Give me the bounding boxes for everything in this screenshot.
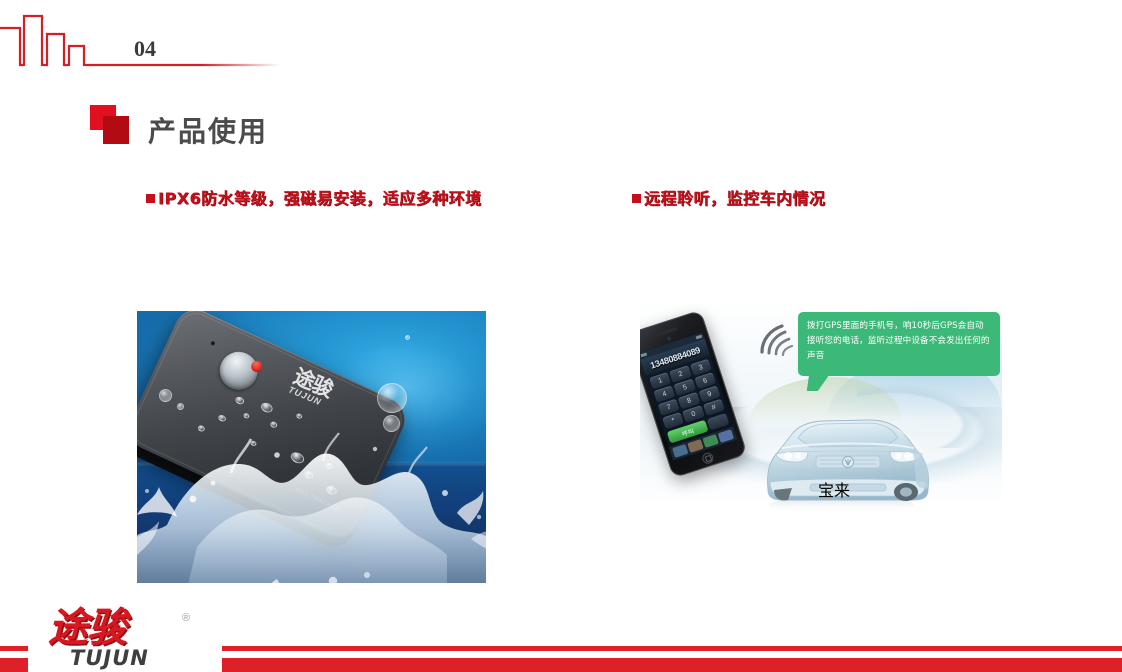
dock-safari-icon[interactable]	[718, 429, 734, 443]
feature-heading-right-text: 远程聆听，监控车内情况	[644, 189, 826, 208]
square-bullet-icon	[632, 194, 641, 203]
air-bubble-icon	[377, 383, 407, 413]
water-splash	[137, 429, 486, 583]
callout-tail	[807, 375, 829, 391]
feature-heading-left-text: IPX6防水等级，强磁易安装，适应多种环境	[158, 189, 482, 208]
dock-messages-icon[interactable]	[702, 434, 718, 448]
company-logo: 途骏 ® TUJUN	[40, 606, 215, 668]
air-bubble-icon	[405, 335, 410, 340]
page-number: 04	[134, 38, 156, 60]
air-bubble-icon	[177, 403, 184, 410]
callout-text: 拨打GPS里面的手机号，响10秒后GPS会自动接听您的电话，监听过程中设备不会发…	[807, 319, 992, 364]
dock-mail-icon[interactable]	[687, 439, 703, 453]
slide-canvas: 04 产品使用 IPX6防水等级，强磁易安装，适应多种环境 远程聆听，监控车内情…	[0, 0, 1122, 672]
feature-heading-right: 远程聆听，监控车内情况	[632, 186, 1052, 212]
product-image-waterproof: 途骏 TUJUN GPS TRACKER	[137, 311, 486, 583]
logo-latin-name: TUJUN	[70, 646, 149, 670]
decorative-square-front	[103, 116, 129, 144]
logo-chinese-name: 途骏	[48, 606, 126, 650]
product-image-remote-listening: 13480884089 1 2 3 4 5 6 7 8 9 * 0 # 呼叫	[640, 300, 1002, 532]
feature-heading-left: IPX6防水等级，强磁易安装，适应多种环境	[146, 186, 566, 212]
signal-waves-icon	[758, 314, 800, 356]
square-bullet-icon	[146, 194, 155, 203]
page-title: 产品使用	[148, 110, 268, 150]
air-bubble-icon	[159, 389, 172, 402]
dock-phone-icon[interactable]	[672, 444, 688, 458]
green-callout-bubble: 拨打GPS里面的手机号，响10秒后GPS会自动接听您的电话，监听过程中设备不会发…	[798, 312, 1000, 376]
registered-trademark-icon: ®	[182, 612, 190, 624]
license-plate: 宝来	[818, 477, 850, 501]
